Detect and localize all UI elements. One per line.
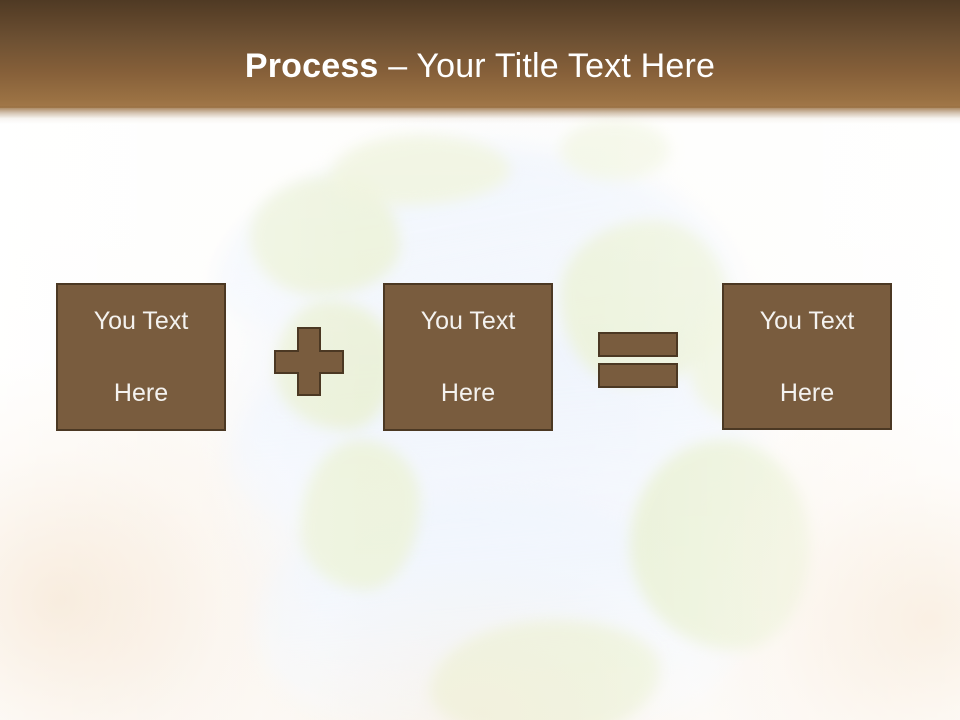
process-box-3-label: You TextHere [740,303,875,411]
process-box-2[interactable]: You TextHere [383,283,553,431]
header-bottom-fade [0,106,960,124]
process-box-2-line2: Here [411,375,526,411]
process-box-2-label: You TextHere [401,303,536,411]
equals-icon-top-bar [598,332,678,357]
process-box-1-line2: Here [84,375,199,411]
process-box-3-line1: You Text [750,303,865,339]
page-title: Process – Your Title Text Here [0,46,960,86]
plus-icon [274,327,344,396]
process-box-3[interactable]: You TextHere [722,283,892,430]
process-box-2-line1: You Text [411,303,526,339]
process-box-1[interactable]: You TextHere [56,283,226,431]
process-box-1-label: You TextHere [74,303,209,411]
page-title-rest: – Your Title Text Here [379,47,716,85]
process-box-3-line2: Here [750,375,865,411]
equals-icon-bottom-bar [598,363,678,388]
plus-icon-fill-vertical [299,329,319,394]
page-title-strong: Process [245,47,379,85]
equals-icon [598,332,678,388]
slide-canvas: Process – Your Title Text Here You TextH… [0,0,960,720]
process-box-1-line1: You Text [84,303,199,339]
